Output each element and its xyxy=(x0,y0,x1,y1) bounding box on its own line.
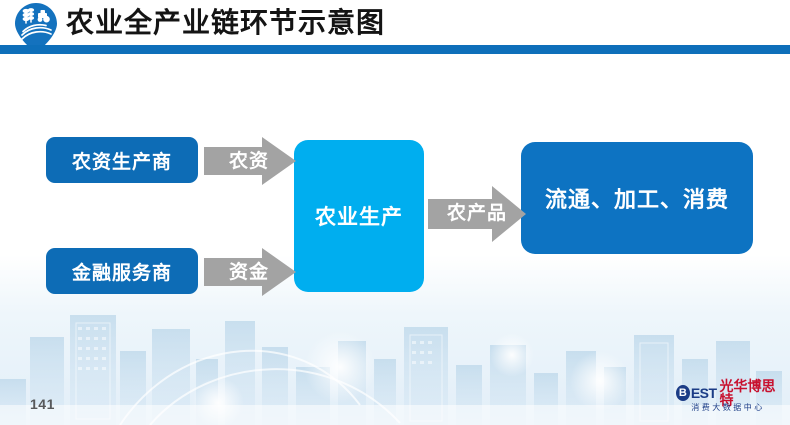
node-agricultural-production[interactable]: 农业生产 xyxy=(294,140,424,292)
value-chain-diagram: 农资生产商 金融服务商 农业生产 流通、加工、消费 农资 资金 xyxy=(0,54,790,354)
node-finance-service-provider[interactable]: 金融服务商 xyxy=(46,248,198,294)
node-distribution-processing-consumption-label: 流通、加工、消费 xyxy=(545,182,729,214)
arrow-agri-input-flow: 农资 xyxy=(204,137,296,185)
arrow-finance-flow: 资金 xyxy=(204,248,296,296)
node-agri-input-supplier[interactable]: 农资生产商 xyxy=(46,137,198,183)
page-number: 141 xyxy=(30,396,55,412)
node-distribution-processing-consumption[interactable]: 流通、加工、消费 xyxy=(521,142,753,254)
slide-canvas: 农业全产业链环节示意图 农资生产商 金融服务商 农业生产 流通、加工、消费 农资 xyxy=(0,0,790,425)
node-finance-service-provider-label: 金融服务商 xyxy=(72,258,172,285)
page-title: 农业全产业链环节示意图 xyxy=(66,4,385,42)
company-logo-en: EST xyxy=(691,386,717,400)
slide-header: 农业全产业链环节示意图 xyxy=(0,0,790,46)
node-agricultural-production-label: 农业生产 xyxy=(315,201,403,231)
company-logo-subtitle: 消费大数据中心 xyxy=(676,404,780,412)
company-logo: B EST 光华博思特 消费大数据中心 xyxy=(676,384,780,414)
company-logo-wordmark: B EST 光华博思特 xyxy=(676,384,780,402)
arrow-product-flow: 农产品 xyxy=(428,186,526,242)
arrow-agri-input-flow-label: 农资 xyxy=(212,152,286,171)
arrow-finance-flow-label: 资金 xyxy=(212,263,286,282)
header-divider-bar xyxy=(0,45,790,54)
best-logo-mark: B xyxy=(676,385,690,401)
node-agri-input-supplier-label: 农资生产商 xyxy=(72,147,172,174)
arrow-product-flow-label: 农产品 xyxy=(431,204,523,223)
